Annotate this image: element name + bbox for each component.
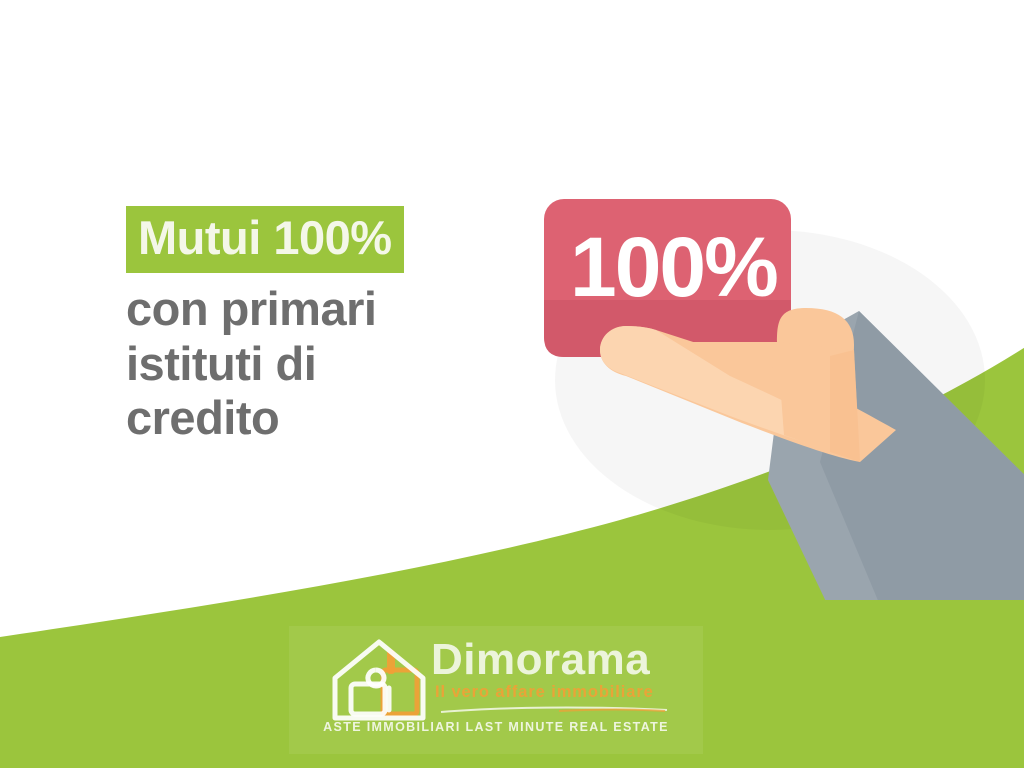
promo-banner: 100% Mutui 100% con primari istituti di …: [0, 0, 1024, 768]
percent-badge-card: 100%: [544, 199, 791, 357]
headline-body: con primari istituti di credito: [126, 282, 546, 446]
headline-highlight: Mutui 100%: [126, 206, 404, 273]
logo-footer-line: ASTE IMMOBILIARI LAST MINUTE REAL ESTATE: [289, 720, 703, 734]
house-icon: [327, 634, 445, 726]
badge-percent-label: 100%: [570, 220, 777, 314]
headline-line-1: con primari: [126, 282, 546, 337]
logo: Dimorama Il vero affare immobiliare ASTE…: [289, 626, 703, 754]
headline-line-3: credito: [126, 391, 546, 446]
logo-tagline: Il vero affare immobiliare: [435, 684, 697, 701]
house-outline-icon: [335, 642, 423, 718]
logo-swoosh-icon: [439, 705, 669, 715]
headline-line-2: istituti di: [126, 337, 546, 392]
logo-wordmark: Dimorama: [431, 638, 696, 682]
house-window-icon: [351, 684, 385, 714]
house-magnifier-icon: [368, 670, 384, 686]
logo-watermark: Dimorama Il vero affare immobiliare ASTE…: [289, 626, 703, 754]
hand-holding-badge-illustration: 100%: [530, 180, 1024, 600]
headline-block: Mutui 100% con primari istituti di credi…: [126, 206, 546, 446]
